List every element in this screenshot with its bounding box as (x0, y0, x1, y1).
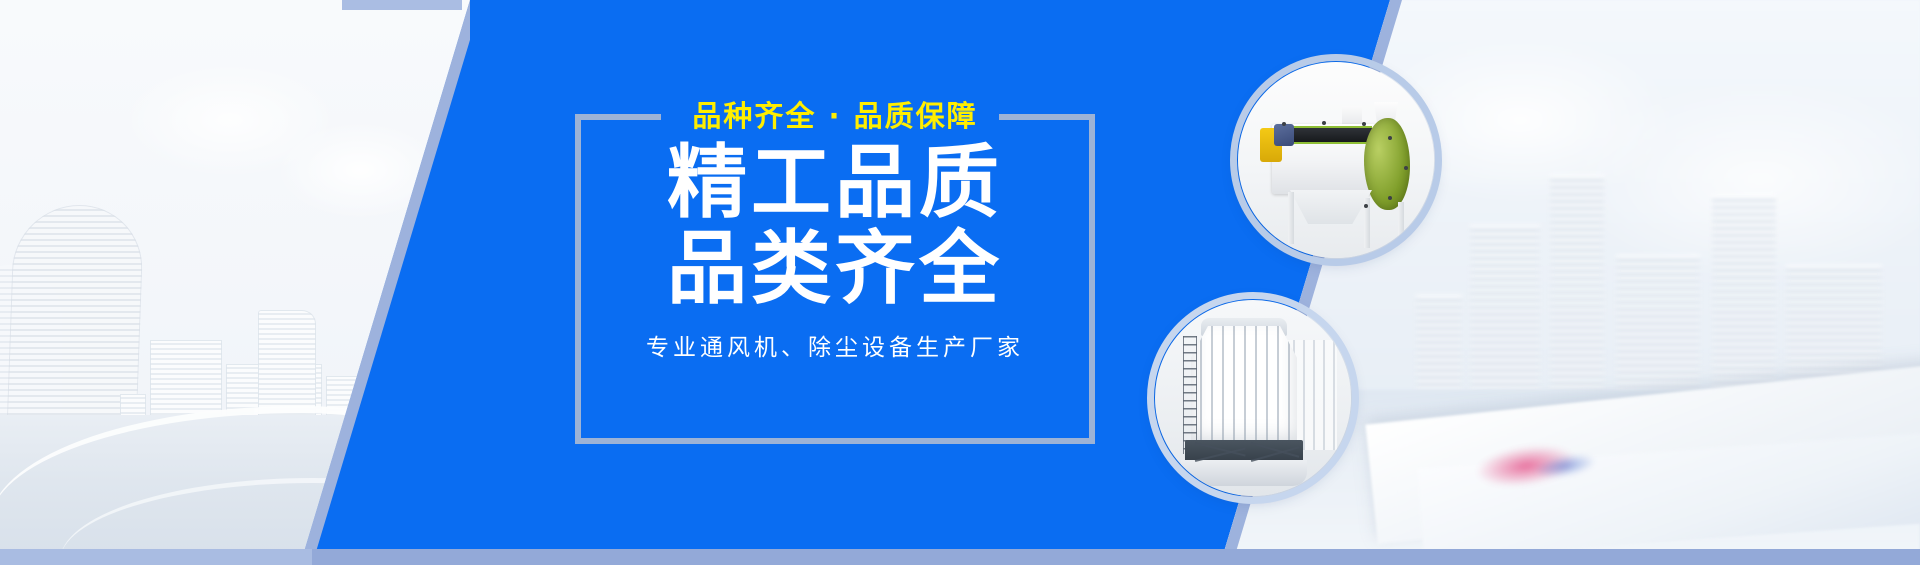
machine-bolt (1364, 204, 1368, 208)
promo-banner: 品种齐全 · 品质保障 精工品质 品类齐全 专业通风机、除尘设备生产厂家 (0, 0, 1920, 565)
machine-hopper (1290, 190, 1372, 224)
machine-bolt (1362, 122, 1366, 126)
machine-bolt (1404, 166, 1408, 170)
machine-bolt (1282, 122, 1286, 126)
cooling-tower-basin (1181, 460, 1307, 486)
frame-bottom-rule (575, 438, 1095, 444)
headline-line-1: 精工品质 (575, 140, 1095, 226)
machine-motor (1274, 124, 1294, 146)
machine-leg (1288, 192, 1294, 244)
cooling-tower-shell (1191, 326, 1297, 448)
machine-bolt (1388, 196, 1392, 200)
skyline-building (1470, 225, 1540, 415)
headline-block: 品种齐全 · 品质保障 精工品质 品类齐全 专业通风机、除尘设备生产厂家 (575, 88, 1095, 478)
machine-fan-drum (1364, 118, 1410, 210)
machine-bolt (1388, 136, 1392, 140)
left-cityscape-photo (0, 0, 470, 565)
subtitle-text: 专业通风机、除尘设备生产厂家 (575, 328, 1095, 362)
bottom-accent-strip-left (0, 549, 312, 565)
machine-bolt (1322, 121, 1326, 125)
headline-line-2: 品类齐全 (575, 226, 1095, 312)
headline-text: 精工品质 品类齐全 (575, 140, 1095, 312)
skyline-building (398, 328, 470, 460)
product-image-dust-collector-fan-unit[interactable] (1238, 62, 1434, 258)
machine-leg (1398, 202, 1404, 246)
cooling-tower-ladder (1183, 336, 1197, 454)
skyline-building (1550, 175, 1604, 415)
product-image-frp-cooling-tower[interactable] (1155, 300, 1351, 496)
top-accent-strip (342, 0, 462, 10)
